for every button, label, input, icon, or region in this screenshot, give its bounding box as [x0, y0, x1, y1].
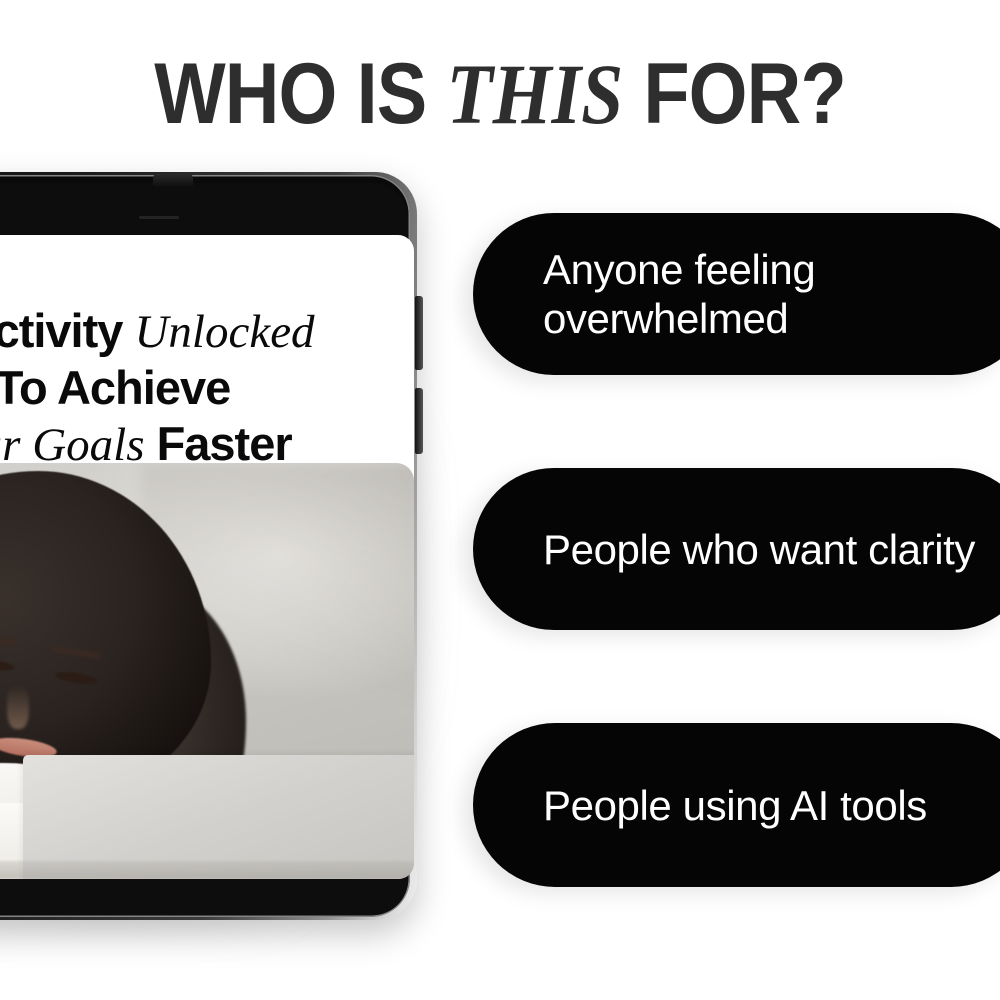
volume-down-button[interactable]: [415, 388, 423, 454]
device-body: oductivity Unlocked To Achieve Your Goal…: [0, 172, 417, 920]
device-rim: oductivity Unlocked To Achieve Your Goal…: [0, 175, 410, 917]
cover-line-1-italic: Unlocked: [134, 306, 314, 358]
camera-bump-icon: [153, 174, 193, 186]
front-camera-icon: [139, 216, 179, 219]
page-title-emphasis: THIS: [447, 46, 624, 142]
audience-pill-overwhelmed[interactable]: Anyone feeling overwhelmed: [473, 213, 1000, 375]
photo-desk: [0, 861, 414, 879]
cover-line-1: oductivity Unlocked: [0, 303, 406, 360]
audience-pill-label: Anyone feeling overwhelmed: [473, 245, 1000, 343]
tablet-mockup: oductivity Unlocked To Achieve Your Goal…: [0, 172, 430, 924]
audience-pill-label: People who want clarity: [473, 525, 999, 574]
cover-photo: [0, 463, 414, 879]
device-bezel: oductivity Unlocked To Achieve Your Goal…: [0, 183, 408, 915]
audience-pill-clarity[interactable]: People who want clarity: [473, 468, 1000, 630]
cover-line-1-bold: oductivity: [0, 304, 122, 357]
cover-line-2: To Achieve: [0, 360, 406, 416]
cover-copy: oductivity Unlocked To Achieve Your Goal…: [0, 303, 414, 473]
page-title: WHO IS THIS FOR?: [60, 48, 940, 140]
audience-pill-label: People using AI tools: [473, 781, 951, 830]
volume-up-button[interactable]: [415, 296, 423, 370]
photo-nose: [7, 685, 29, 729]
audience-pill-ai-tools[interactable]: People using AI tools: [473, 723, 1000, 887]
slide-canvas: WHO IS THIS FOR? oductivity Unlocked: [0, 0, 1000, 1000]
page-title-part1: WHO IS: [154, 46, 446, 142]
device-screen[interactable]: oductivity Unlocked To Achieve Your Goal…: [0, 235, 414, 879]
page-title-part2: FOR?: [623, 46, 846, 142]
